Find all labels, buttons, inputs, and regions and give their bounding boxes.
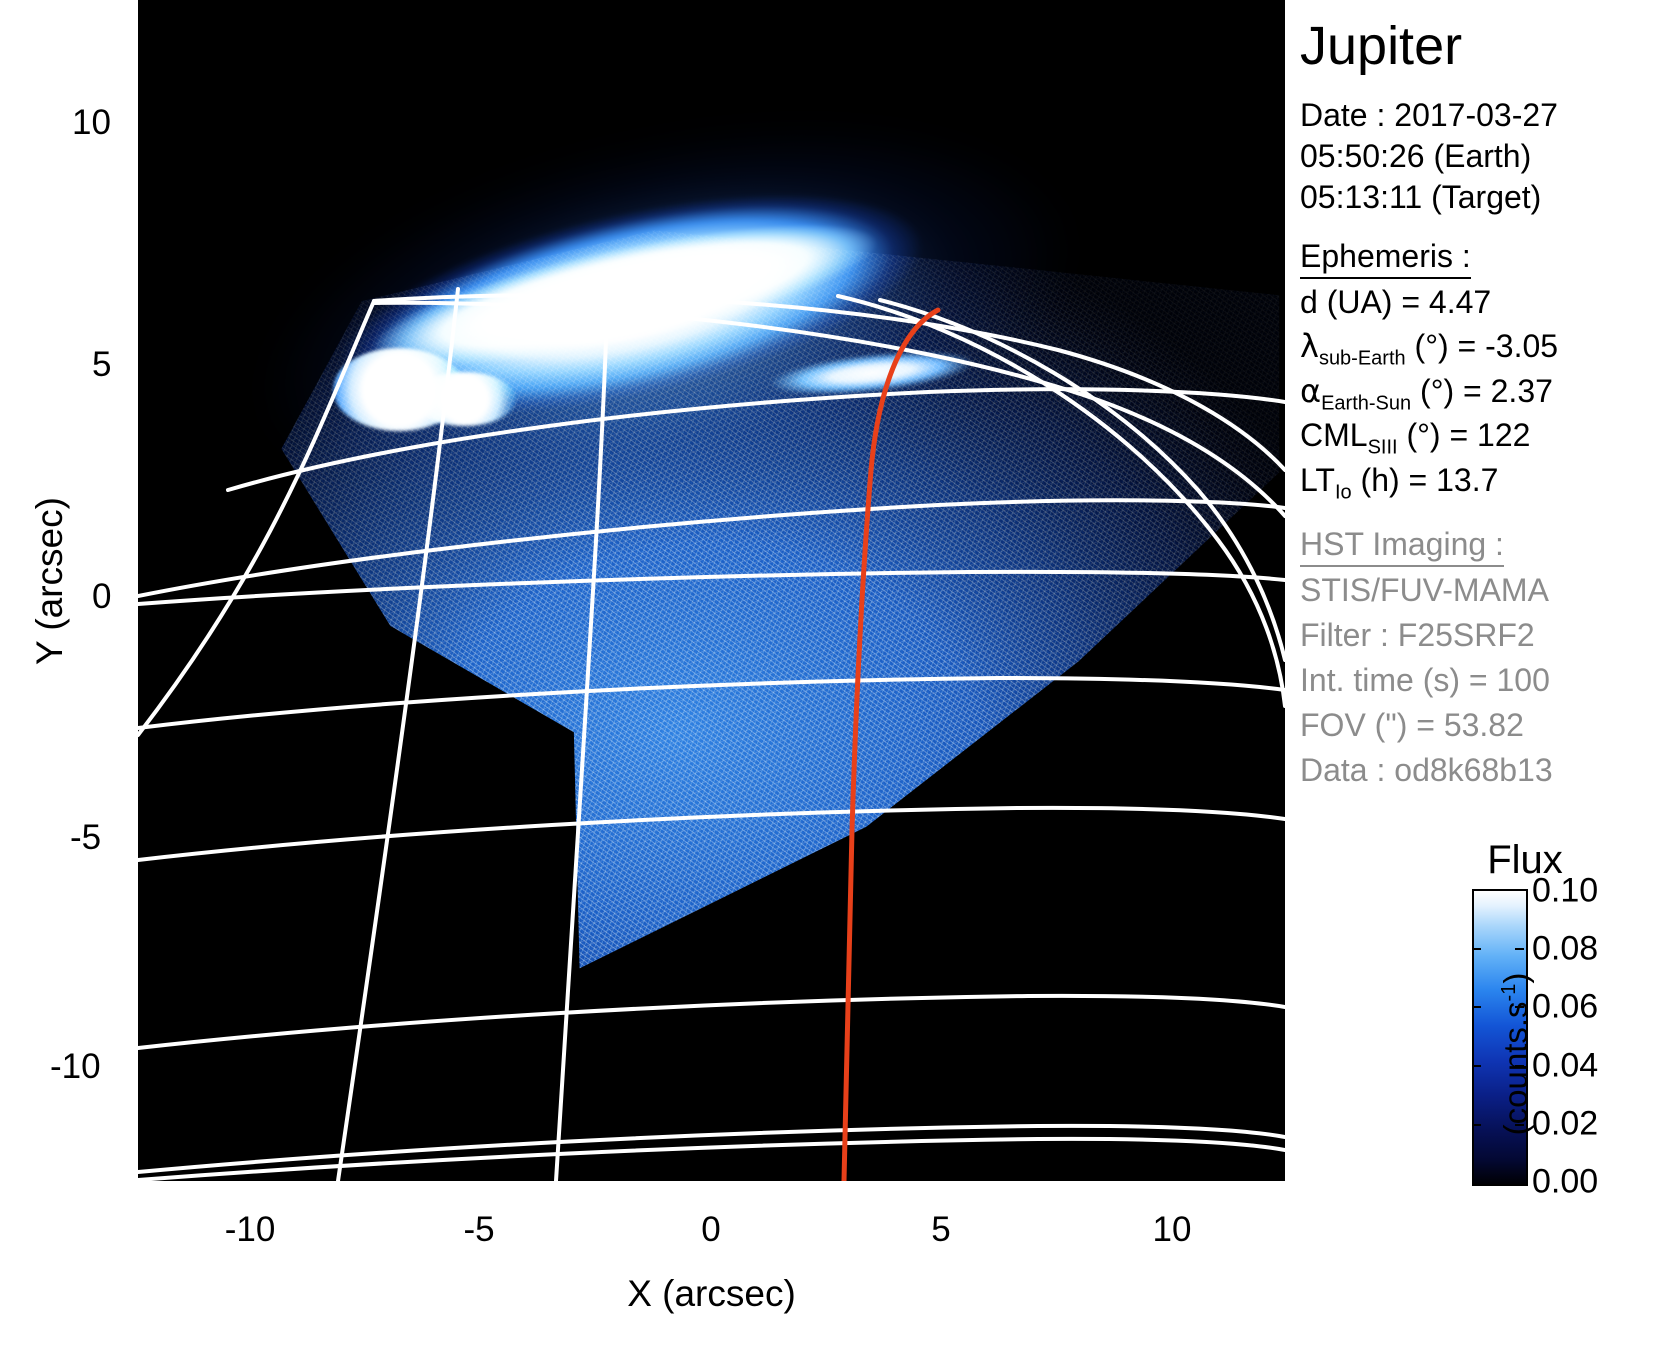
colorbar-tick-label: 0.04 bbox=[1532, 1047, 1598, 1086]
figure-root: 10 5 0 -5 -10 -10 -5 0 5 10 Y (arcsec) X… bbox=[0, 0, 1677, 1367]
graticule-parallel bbox=[228, 389, 1285, 490]
plot-stage bbox=[138, 0, 1285, 1181]
graticule-parallel bbox=[138, 808, 1285, 860]
ephemeris-row-distance: d (UA) = 4.47 bbox=[1300, 284, 1491, 321]
colorbar-tick-label: 0.10 bbox=[1532, 872, 1598, 911]
ephemeris-row-phase-angle: αEarth-Sun (°) = 2.37 bbox=[1300, 372, 1553, 415]
observation-date: Date : 2017-03-27 bbox=[1300, 97, 1558, 134]
hst-integration-time: Int. time (s) = 100 bbox=[1300, 662, 1550, 699]
ephemeris-heading: Ephemeris : bbox=[1300, 238, 1471, 279]
hst-imaging-heading: HST Imaging : bbox=[1300, 526, 1504, 567]
lambda-subscript: sub-Earth bbox=[1319, 347, 1406, 369]
lambda-value: = -3.05 bbox=[1458, 328, 1559, 364]
colorbar-minor-tick bbox=[1472, 1065, 1481, 1067]
graticule-meridian bbox=[338, 289, 458, 1181]
hst-imaging-heading-text: HST Imaging : bbox=[1300, 526, 1504, 567]
colorbar-tick-label: 0.00 bbox=[1532, 1163, 1598, 1202]
alpha-value: = 2.37 bbox=[1463, 373, 1553, 409]
y-tick-label: -10 bbox=[50, 1047, 101, 1087]
alpha-unit: (°) bbox=[1420, 373, 1454, 409]
alpha-symbol: α bbox=[1300, 372, 1321, 410]
colorbar-minor-tick bbox=[1472, 948, 1481, 950]
graticule-parallel bbox=[138, 572, 1285, 604]
ephemeris-heading-text: Ephemeris : bbox=[1300, 238, 1471, 279]
alpha-subscript: Earth-Sun bbox=[1321, 392, 1411, 414]
colorbar-unit-exponent: -1 bbox=[1498, 984, 1520, 1002]
hst-dataset-id: Data : od8k68b13 bbox=[1300, 752, 1553, 789]
ephemeris-distance-text: d (UA) = 4.47 bbox=[1300, 284, 1491, 320]
lt-value: = 13.7 bbox=[1409, 462, 1499, 498]
colorbar-tick-label: 0.02 bbox=[1532, 1105, 1598, 1144]
graticule-meridian bbox=[880, 300, 1285, 660]
target-title: Jupiter bbox=[1300, 15, 1462, 77]
x-tick-label: 5 bbox=[931, 1210, 950, 1250]
x-tick-label: 10 bbox=[1153, 1210, 1192, 1250]
y-tick-label: 0 bbox=[92, 577, 111, 617]
lambda-unit: (°) bbox=[1415, 328, 1449, 364]
lt-symbol: LT bbox=[1300, 462, 1335, 498]
x-axis-label: X (arcsec) bbox=[138, 1273, 1285, 1315]
ephemeris-row-cml: CMLSIII (°) = 122 bbox=[1300, 417, 1530, 459]
hst-filter: Filter : F25SRF2 bbox=[1300, 617, 1535, 654]
aurora-image-panel bbox=[138, 0, 1285, 1181]
colorbar-unit-text: (counts.s bbox=[1497, 1001, 1534, 1135]
graticule-meridian bbox=[138, 301, 374, 735]
x-tick-label: 0 bbox=[701, 1210, 720, 1250]
y-tick-label: 5 bbox=[92, 345, 111, 385]
graticule-parallel bbox=[138, 678, 1285, 728]
lambda-symbol: λ bbox=[1300, 327, 1319, 365]
y-axis-label: Y (arcsec) bbox=[29, 451, 71, 711]
planet-limb-arc bbox=[374, 303, 1285, 516]
x-tick-label: -10 bbox=[225, 1210, 276, 1250]
lt-unit: (h) bbox=[1361, 462, 1400, 498]
graticule-parallel bbox=[138, 500, 1285, 596]
colorbar-unit-close: ) bbox=[1497, 973, 1534, 984]
y-tick-label: 10 bbox=[72, 103, 111, 143]
graticule-meridian bbox=[556, 278, 608, 1181]
cml-value: = 122 bbox=[1449, 417, 1530, 453]
cml-subscript: SIII bbox=[1368, 436, 1398, 458]
x-tick-label: -5 bbox=[463, 1210, 494, 1250]
hst-instrument: STIS/FUV-MAMA bbox=[1300, 572, 1549, 609]
io-footprint-path bbox=[844, 310, 938, 1181]
colorbar-minor-tick bbox=[1472, 1006, 1481, 1008]
colorbar-unit-label: (counts.s-1) bbox=[1497, 904, 1535, 1204]
graticule-parallel bbox=[138, 996, 1285, 1048]
cml-unit: (°) bbox=[1406, 417, 1440, 453]
observation-time-earth: 05:50:26 (Earth) bbox=[1300, 138, 1531, 175]
lt-subscript: Io bbox=[1335, 481, 1352, 503]
colorbar-minor-tick bbox=[1472, 1124, 1481, 1126]
ephemeris-row-io-local-time: LTIo (h) = 13.7 bbox=[1300, 462, 1498, 504]
planet-limb-arc bbox=[374, 295, 1285, 470]
hst-fov: FOV (") = 53.82 bbox=[1300, 707, 1524, 744]
colorbar-tick-label: 0.06 bbox=[1532, 988, 1598, 1027]
cml-symbol: CML bbox=[1300, 417, 1368, 453]
y-tick-label: -5 bbox=[70, 818, 101, 858]
ephemeris-row-sub-earth-latitude: λsub-Earth (°) = -3.05 bbox=[1300, 327, 1558, 370]
colorbar-tick-label: 0.08 bbox=[1532, 930, 1598, 969]
graticule-overlay bbox=[138, 0, 1285, 1181]
observation-time-target: 05:13:11 (Target) bbox=[1300, 179, 1541, 216]
